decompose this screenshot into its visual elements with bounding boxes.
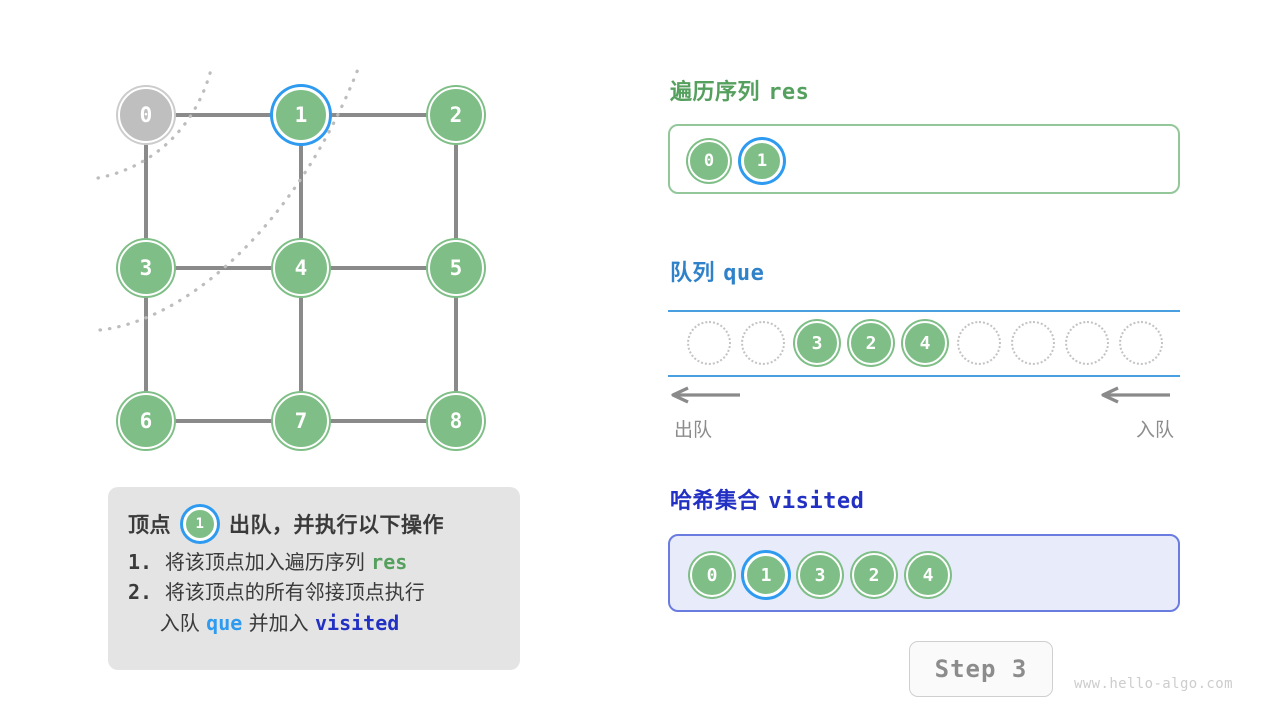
queue-slot-1 (741, 321, 785, 365)
visited-slot-0: 0 (690, 553, 734, 597)
graph-node-2: 2 (428, 87, 484, 143)
info-step-2: 2. 将该顶点的所有邻接顶点执行 (128, 577, 500, 607)
graph-node-1: 1 (273, 87, 329, 143)
graph-node-0: 0 (118, 87, 174, 143)
graph-node-7: 7 (273, 393, 329, 449)
spacer-r2 (715, 261, 723, 286)
info-head-suffix: 出队，并执行以下操作 (229, 509, 444, 539)
graph-node-6: 6 (118, 393, 174, 449)
state-panels: 遍历序列 res 01 队列 que 324 出队 入队 哈希集合 (666, 0, 1186, 720)
res-title-code: res (768, 80, 809, 105)
res-title-cn: 遍历序列 (670, 80, 760, 105)
queue-slot-5 (957, 321, 1001, 365)
info-step-2-code-que: que (206, 611, 242, 635)
info-head-node-chip: 1 (183, 507, 217, 541)
info-step-2-body: 将该顶点的所有邻接顶点执行 (165, 580, 425, 604)
graph-node-3: 3 (118, 240, 174, 296)
queue-slot-7 (1065, 321, 1109, 365)
info-head-prefix: 顶点 (128, 509, 171, 539)
visited-title: 哈希集合 visited (670, 483, 864, 515)
visited-node-2: 2 (852, 553, 896, 597)
queue-slot-8 (1119, 321, 1163, 365)
queue-empty-slot (687, 321, 731, 365)
info-step-1-body: 将该顶点加入遍历序列 (165, 550, 365, 574)
info-step-2-index: 2. (128, 580, 152, 604)
queue-title: 队列 que (670, 255, 764, 287)
res-slot-1: 1 (741, 140, 783, 182)
graph-node-8: 8 (428, 393, 484, 449)
queue-arrows-svg (666, 385, 1178, 413)
queue-direction-row: 出队 入队 (666, 385, 1178, 445)
info-step-2-wrap-prefix: 入队 (160, 611, 200, 635)
queue-slot-0 (687, 321, 731, 365)
spacer-r3 (760, 489, 768, 514)
queue-node-2: 2 (849, 321, 893, 365)
queue-slot-4: 4 (903, 321, 947, 365)
enqueue-label: 入队 (1136, 415, 1174, 442)
node-chip-1: 1 (183, 507, 217, 541)
queue-empty-slot (957, 321, 1001, 365)
illustration-canvas: 012345678 顶点 1 出队，并执行以下操作 1. 将该顶点加入遍历序列 … (0, 0, 1280, 720)
queue-slot-3: 2 (849, 321, 893, 365)
res-node-1: 1 (741, 140, 783, 182)
info-step-2-code-visited: visited (315, 611, 399, 635)
visited-container: 01324 (668, 534, 1180, 612)
visited-slot-3: 2 (852, 553, 896, 597)
queue-node-4: 4 (903, 321, 947, 365)
info-step-1-text (152, 550, 165, 574)
queue-rail-top (668, 310, 1180, 312)
queue-slot-6 (1011, 321, 1055, 365)
graph-diagram: 012345678 (0, 0, 620, 500)
info-step-2-cont: 入队 que 并加入 visited (128, 608, 500, 638)
queue-empty-slot (1065, 321, 1109, 365)
visited-node-1: 1 (744, 553, 788, 597)
res-slot-0: 0 (688, 140, 730, 182)
queue-node-3: 3 (795, 321, 839, 365)
spacer-3 (128, 611, 160, 635)
dequeue-label: 出队 (674, 415, 712, 442)
queue-slot-2: 3 (795, 321, 839, 365)
visited-node-4: 4 (906, 553, 950, 597)
operation-info-box: 顶点 1 出队，并执行以下操作 1. 将该顶点加入遍历序列 res 2. 将该顶… (108, 487, 520, 670)
res-container: 01 (668, 124, 1180, 194)
watermark: www.hello-algo.com (1074, 676, 1233, 692)
graph-node-5: 5 (428, 240, 484, 296)
spacer-r1 (760, 80, 768, 105)
queue-empty-slot (741, 321, 785, 365)
res-title: 遍历序列 res (670, 74, 809, 106)
visited-node-3: 3 (798, 553, 842, 597)
visited-title-code: visited (768, 489, 864, 514)
queue-empty-slot (1011, 321, 1055, 365)
queue-container: 324 (668, 310, 1180, 377)
queue-title-code: que (723, 261, 764, 286)
visited-slot-2: 3 (798, 553, 842, 597)
visited-slot-4: 4 (906, 553, 950, 597)
res-node-0: 0 (688, 140, 730, 182)
queue-empty-slot (1119, 321, 1163, 365)
info-step-1: 1. 将该顶点加入遍历序列 res (128, 547, 500, 577)
spacer-2 (152, 580, 165, 604)
info-step-2-mid: 并加入 (249, 611, 309, 635)
info-step-1-index: 1. (128, 550, 152, 574)
queue-title-cn: 队列 (670, 261, 715, 286)
info-headline: 顶点 1 出队，并执行以下操作 (128, 501, 500, 547)
info-step-1-code-res: res (371, 550, 407, 574)
visited-title-cn: 哈希集合 (670, 489, 760, 514)
queue-rail-bottom (668, 375, 1180, 377)
visited-slot-1: 1 (744, 553, 788, 597)
step-badge: Step 3 (909, 641, 1053, 697)
visited-node-0: 0 (690, 553, 734, 597)
graph-node-4: 4 (273, 240, 329, 296)
